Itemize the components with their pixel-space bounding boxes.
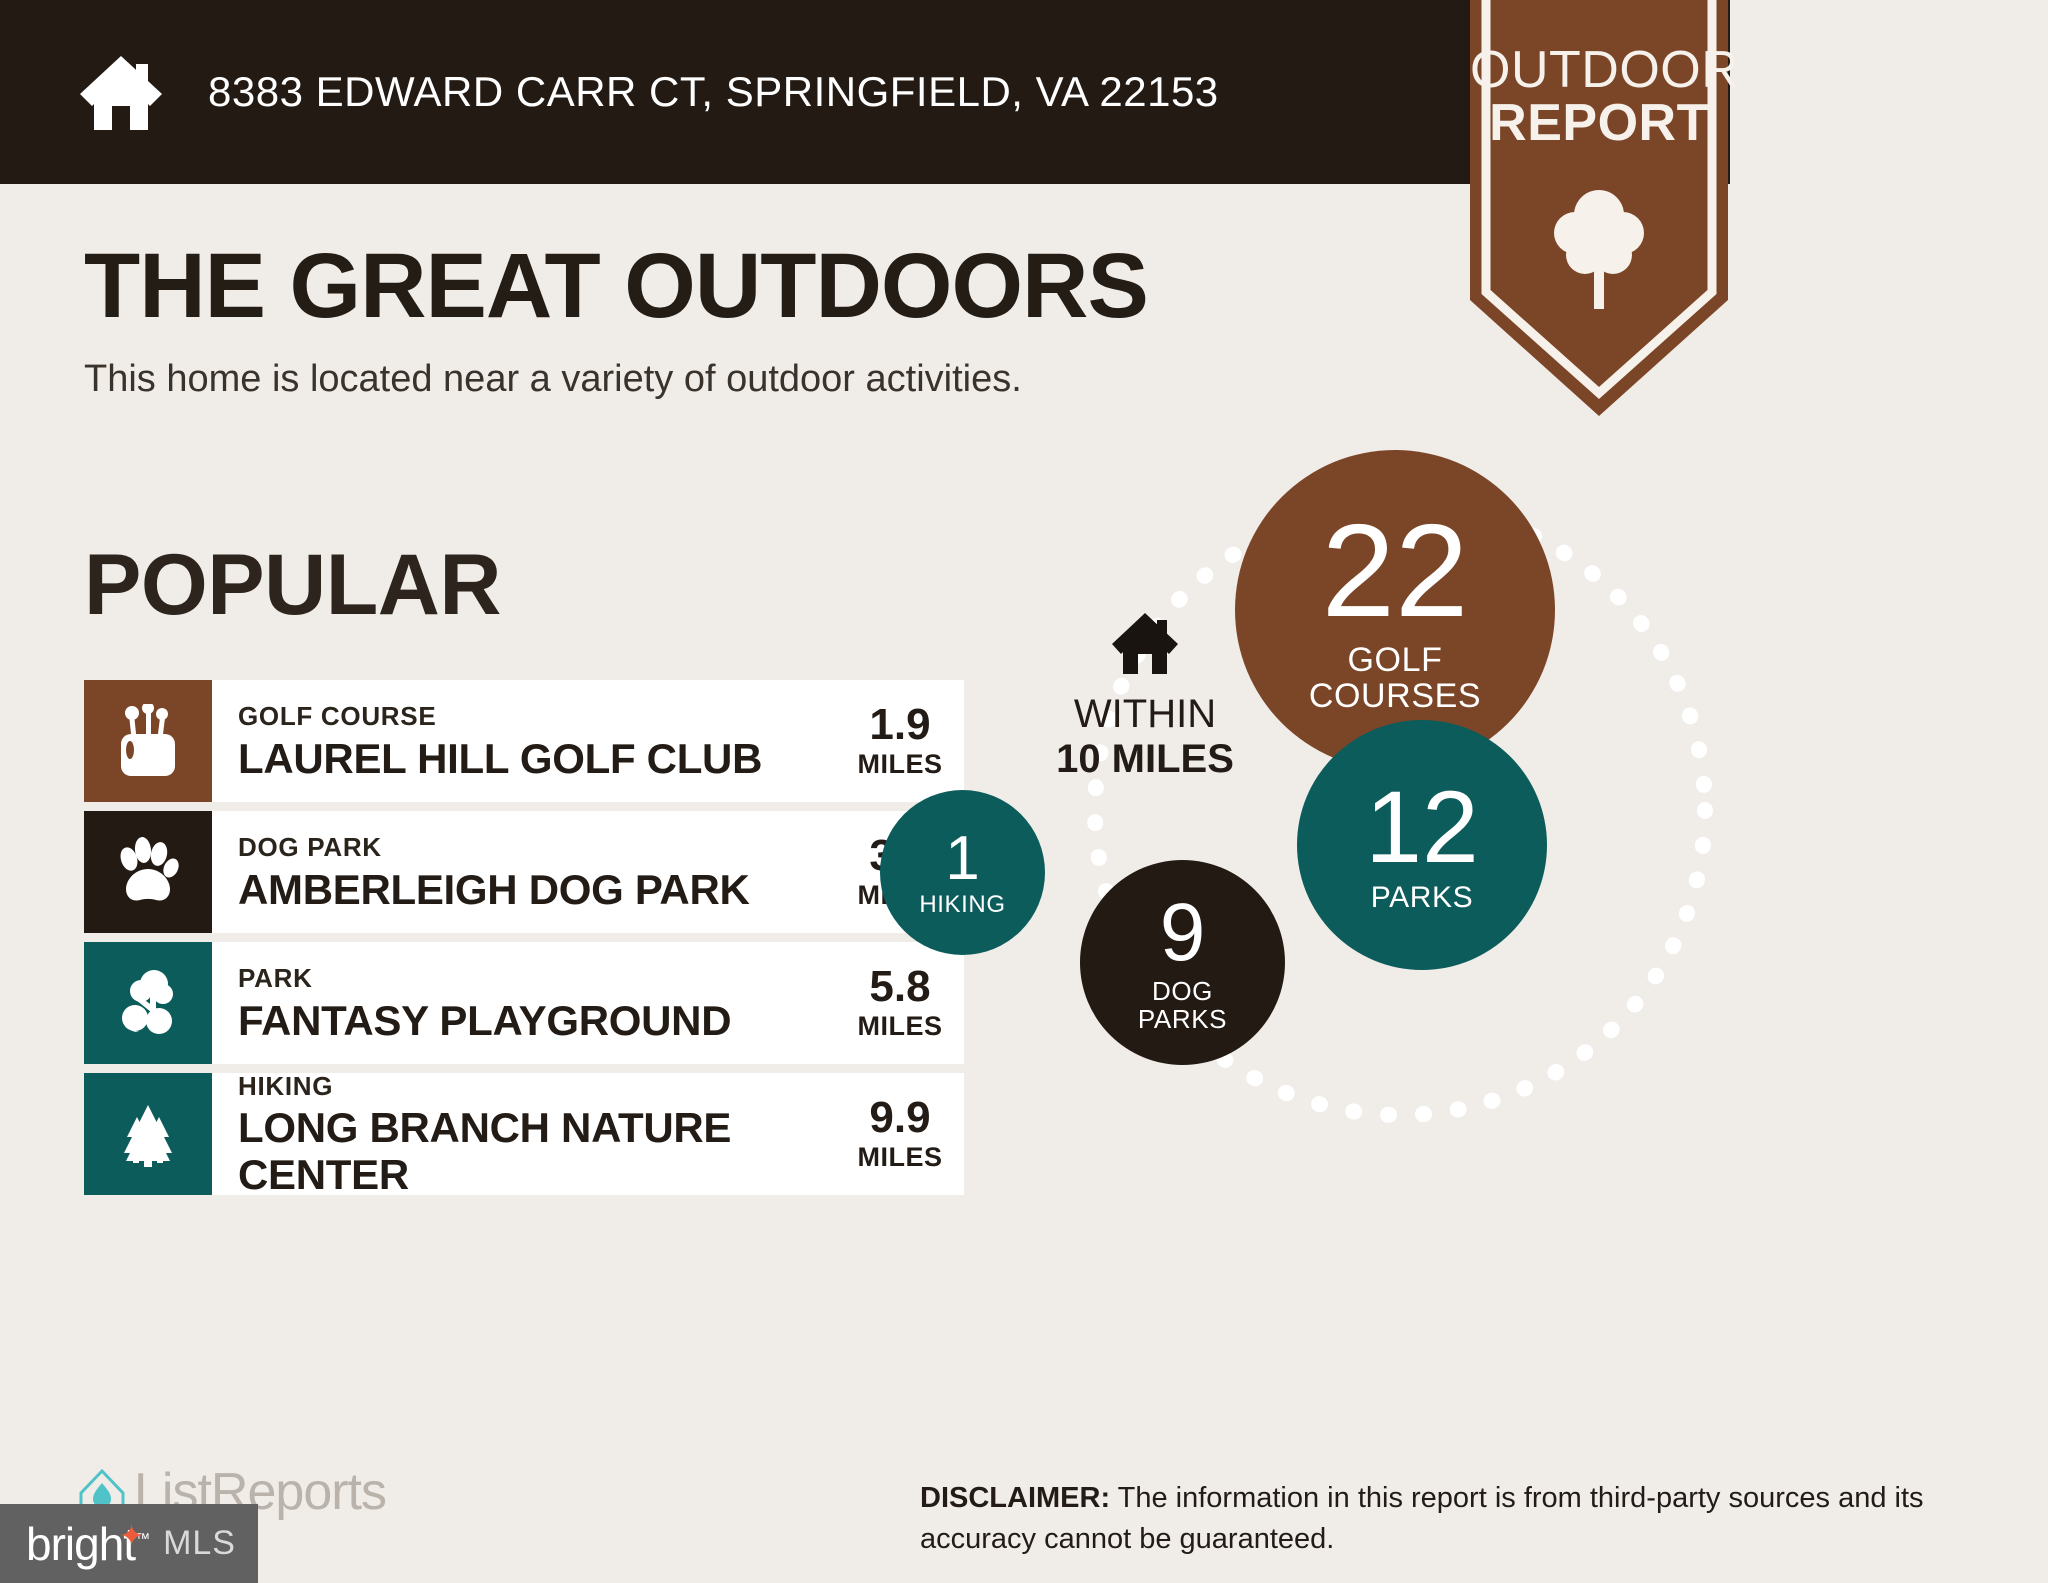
list-item-text: DOG PARK AMBERLEIGH DOG PARK <box>212 811 844 933</box>
bubble-count: 12 <box>1365 776 1478 878</box>
outdoor-report-badge: OUTDOOR REPORT <box>1470 0 1728 416</box>
park-tree-icon <box>117 966 179 1040</box>
list-item-distance: 9.9 MILES <box>844 1073 964 1195</box>
golf-bag-icon <box>117 704 179 778</box>
home-icon <box>78 52 164 132</box>
distance-value: 9.9 <box>869 1095 930 1141</box>
distance-value: 1.9 <box>869 702 930 748</box>
list-item-name: AMBERLEIGH DOG PARK <box>238 866 844 913</box>
page-title: THE GREAT OUTDOORS <box>84 240 1148 332</box>
distance-unit: MILES <box>857 1011 942 1042</box>
bubble-label-line1: GOLF <box>1348 643 1443 679</box>
distance-unit: MILES <box>857 1142 942 1173</box>
bubble-hiking[interactable]: 1 HIKING <box>880 790 1045 955</box>
bright-wordmark: bright™ ✦ <box>26 1517 149 1571</box>
intro-block: THE GREAT OUTDOORS This home is located … <box>84 240 1148 401</box>
park-tree-icon-tile <box>84 942 212 1064</box>
list-item[interactable]: PARK FANTASY PLAYGROUND 5.8 MILES <box>84 942 964 1064</box>
within-label: WITHIN <box>980 692 1310 737</box>
popular-heading: POPULAR <box>84 542 501 628</box>
miles-label: 10 MILES <box>980 737 1310 782</box>
list-item[interactable]: GOLF COURSE LAUREL HILL GOLF CLUB 1.9 MI… <box>84 680 964 802</box>
list-item[interactable]: DOG PARK AMBERLEIGH DOG PARK 3.6 MILES <box>84 811 964 933</box>
list-item-distance: 1.9 MILES <box>844 680 964 802</box>
list-item-category: PARK <box>238 962 844 995</box>
disclaimer: DISCLAIMER: The information in this repo… <box>920 1478 2010 1560</box>
distance-unit: MILES <box>857 749 942 780</box>
golf-bag-icon-tile <box>84 680 212 802</box>
paw-print-icon <box>117 835 179 909</box>
list-item-category: HIKING <box>238 1070 844 1103</box>
bright-mls-logo: bright™ ✦ MLS <box>0 1504 258 1583</box>
bubble-count: 22 <box>1322 505 1469 637</box>
bubble-dog-parks[interactable]: 9 DOG PARKS <box>1080 860 1285 1065</box>
popular-list: GOLF COURSE LAUREL HILL GOLF CLUB 1.9 MI… <box>84 680 964 1204</box>
list-item-text: HIKING LONG BRANCH NATURE CENTER <box>212 1073 844 1195</box>
pine-trees-icon-tile <box>84 1073 212 1195</box>
bubble-parks[interactable]: 12 PARKS <box>1297 720 1547 970</box>
disclaimer-label: DISCLAIMER: <box>920 1482 1110 1514</box>
bubble-count: 1 <box>945 828 979 890</box>
bubble-label-line2: PARKS <box>1138 1006 1227 1033</box>
bubble-label-line1: HIKING <box>919 892 1005 917</box>
list-item-name: LAUREL HILL GOLF CLUB <box>238 735 844 782</box>
list-item-distance: 5.8 MILES <box>844 942 964 1064</box>
list-item-name: LONG BRANCH NATURE CENTER <box>238 1104 844 1198</box>
within-10-miles-diagram: WITHIN 10 MILES 22 GOLF COURSES 12 PARKS… <box>1080 460 2010 1360</box>
page-subtitle: This home is located near a variety of o… <box>84 358 1148 401</box>
list-item-name: FANTASY PLAYGROUND <box>238 997 844 1044</box>
pine-trees-icon <box>117 1097 179 1171</box>
list-item-category: GOLF COURSE <box>238 700 844 733</box>
star-icon: ✦ <box>119 1519 143 1554</box>
property-address: 8383 EDWARD CARR CT, SPRINGFIELD, VA 221… <box>208 68 1219 116</box>
mls-text: MLS <box>163 1524 236 1563</box>
list-item[interactable]: HIKING LONG BRANCH NATURE CENTER 9.9 MIL… <box>84 1073 964 1195</box>
bubble-label-line1: PARKS <box>1371 882 1473 914</box>
list-item-text: PARK FANTASY PLAYGROUND <box>212 942 844 1064</box>
bubble-label-line1: DOG <box>1152 978 1213 1005</box>
paw-print-icon-tile <box>84 811 212 933</box>
list-item-category: DOG PARK <box>238 831 844 864</box>
distance-value: 5.8 <box>869 964 930 1010</box>
bubble-count: 9 <box>1160 892 1206 974</box>
list-item-text: GOLF COURSE LAUREL HILL GOLF CLUB <box>212 680 844 802</box>
bubble-label-line2: COURSES <box>1309 679 1481 715</box>
